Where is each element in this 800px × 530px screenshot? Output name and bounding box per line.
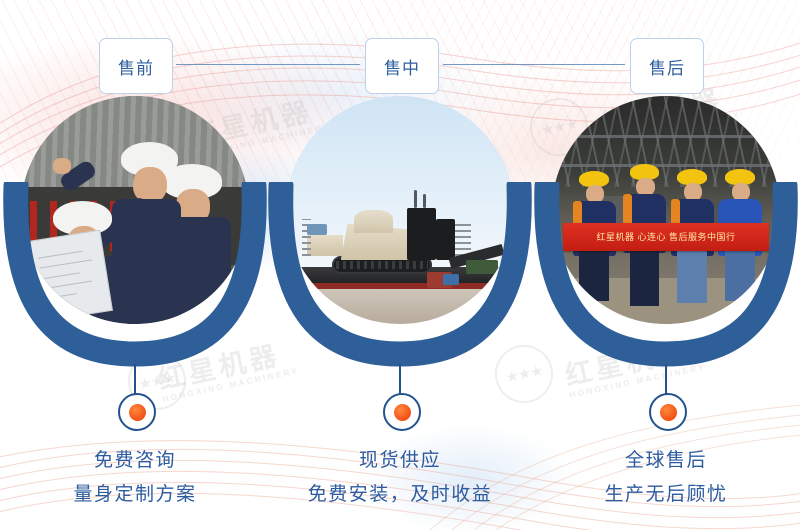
stage-caption-pre-sales: 免费咨询 量身定制方案 bbox=[2, 444, 268, 512]
caption-line-1: 全球售后 bbox=[625, 450, 707, 471]
stage-connector-line-2 bbox=[443, 64, 625, 65]
caption-line-2: 生产无后顾忧 bbox=[533, 478, 799, 512]
caption-line-2: 免费安装，及时收益 bbox=[267, 478, 533, 512]
stage-arc-in-sales bbox=[267, 182, 533, 368]
caption-line-2: 量身定制方案 bbox=[2, 478, 268, 512]
node-dot-icon bbox=[129, 404, 146, 421]
stage-badge-pre-sales[interactable]: 售前 bbox=[99, 38, 173, 94]
caption-line-1: 现货供应 bbox=[359, 450, 441, 471]
stage-badge-in-sales[interactable]: 售中 bbox=[365, 38, 439, 94]
stage-caption-after-sales: 全球售后 生产无后顾忧 bbox=[533, 444, 799, 512]
stage-card-pre-sales[interactable]: 免费咨询 量身定制方案 bbox=[2, 96, 268, 526]
stage-stem-in-sales bbox=[399, 364, 401, 396]
node-dot-icon bbox=[660, 404, 677, 421]
stage-connector-line-1 bbox=[176, 64, 360, 65]
stage-node-pre-sales bbox=[118, 393, 156, 431]
stage-card-in-sales[interactable]: 现货供应 免费安装，及时收益 bbox=[267, 96, 533, 526]
stage-card-after-sales[interactable]: 红星机器 心连心 售后服务中国行 全球售后 生产无后顾忧 bbox=[533, 96, 799, 526]
stage-stem-after-sales bbox=[665, 364, 667, 396]
stage-badge-after-sales[interactable]: 售后 bbox=[630, 38, 704, 94]
stage-arc-pre-sales bbox=[2, 182, 268, 368]
promo-graphic: 红星机器 HONGXING MACHINERY 红星机器 HONGXING MA… bbox=[0, 0, 800, 530]
node-dot-icon bbox=[394, 404, 411, 421]
caption-line-1: 免费咨询 bbox=[94, 450, 176, 471]
stage-node-after-sales bbox=[649, 393, 687, 431]
stage-node-in-sales bbox=[383, 393, 421, 431]
stage-stem-pre-sales bbox=[134, 364, 136, 396]
stage-caption-in-sales: 现货供应 免费安装，及时收益 bbox=[267, 444, 533, 512]
stage-arc-after-sales bbox=[533, 182, 799, 368]
